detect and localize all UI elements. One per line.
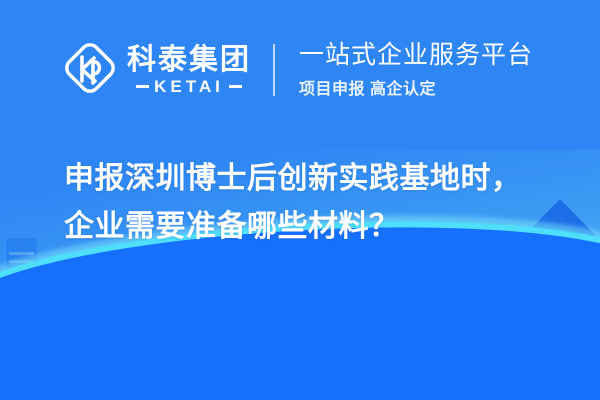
- brand-wordmark: 科泰集团 KETAI: [127, 45, 251, 96]
- banner-header: 科泰集团 KETAI 一站式企业服务平台 项目申报 高企认定: [0, 0, 600, 140]
- page-title-line-1: 申报深圳博士后创新实践基地时，: [64, 155, 564, 203]
- brand-name-cn: 科泰集团: [127, 45, 251, 76]
- tagline-block: 一站式企业服务平台 项目申报 高企认定: [299, 41, 533, 100]
- vertical-divider-icon: [273, 44, 275, 96]
- page-title: 申报深圳博士后创新实践基地时， 企业需要准备哪些材料？: [64, 155, 564, 251]
- brand-name-en-row: KETAI: [136, 78, 242, 95]
- dash-icon: [136, 85, 149, 88]
- tagline-secondary: 项目申报 高企认定: [299, 75, 533, 99]
- promo-banner: 科泰集团 KETAI 一站式企业服务平台 项目申报 高企认定 申报深圳博士后创新…: [0, 0, 600, 400]
- ketai-kp-diamond-logo-icon: [62, 40, 118, 101]
- dash-icon: [229, 85, 242, 88]
- brand-logo[interactable]: 科泰集团 KETAI: [62, 40, 251, 101]
- brand-name-en: KETAI: [154, 78, 224, 95]
- page-title-line-2: 企业需要准备哪些材料？: [64, 203, 564, 251]
- tagline-primary: 一站式企业服务平台: [299, 41, 533, 70]
